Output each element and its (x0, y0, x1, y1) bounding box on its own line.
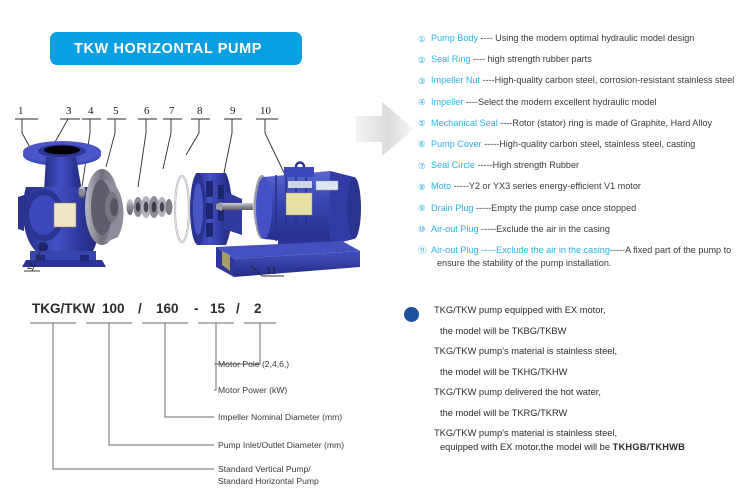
model-code-segment: - (194, 301, 199, 316)
model-code-segment: 15 (210, 301, 226, 316)
variant-line: TKG/TKW pump delivered the hot water, (434, 387, 752, 398)
legend-term: Seal Circle (431, 160, 475, 170)
legend-description: ----Rotor (stator) ring is made of Graph… (498, 118, 712, 128)
legend-term: Mechanical Seal (431, 118, 498, 128)
callout-number: 6 (144, 105, 150, 117)
callout-number: 7 (169, 105, 175, 117)
model-code-segment: 2 (254, 301, 262, 316)
model-label: Motor Pole (2,4,6,) (218, 359, 289, 369)
legend-number: ⑩ (418, 224, 431, 236)
legend-item: ③ Impeller Nut ----High-quality carbon s… (418, 75, 752, 87)
legend-item: ⑤ Mechanical Seal ----Rotor (stator) rin… (418, 118, 752, 130)
callout-number: 4 (88, 105, 94, 117)
variant-notes-block: TKG/TKW pump equipped with EX motor, the… (404, 305, 752, 462)
legend-term: Impeller (431, 97, 463, 107)
legend-number: ⑦ (418, 160, 431, 172)
legend-description: ----Select the modern excellent hydrauli… (463, 97, 656, 107)
impeller-art (85, 169, 124, 245)
parts-legend-list: ① Pump Body ---- Using the modern optima… (418, 33, 752, 279)
legend-item: ⑧ Moto -----Y2 or YX3 series energy-effi… (418, 181, 752, 193)
model-label: Standard Vertical Pump/ (218, 464, 311, 474)
legend-term: Seal Ring (431, 54, 470, 64)
variant-line: the model will be TKHG/TKHW (434, 367, 752, 378)
legend-number: ⑥ (418, 139, 431, 151)
legend-term: Air-out Plug -----Exclude the air in the… (431, 245, 610, 255)
legend-number: ⑤ (418, 118, 431, 130)
callout-number: 10 (260, 105, 272, 117)
legend-item: ① Pump Body ---- Using the modern optima… (418, 33, 752, 45)
model-label: Motor Power (kW) (218, 385, 287, 395)
variant-line: TKG/TKW pump's material is stainless ste… (434, 346, 752, 357)
callout-number: 8 (197, 105, 203, 117)
legend-description: -----Y2 or YX3 series energy-efficient V… (451, 181, 641, 191)
legend-item: ⑩ Air-out Plug -----Exclude the air in t… (418, 224, 752, 236)
bullet-icon (404, 307, 419, 322)
legend-term: Drain Plug (431, 203, 473, 213)
legend-item: ⑨ Drain Plug -----Empty the pump case on… (418, 203, 752, 215)
legend-item: ⑦ Seal Circle -----High strength Rubber (418, 160, 752, 172)
variant-line: TKG/TKW pump's material is stainless ste… (434, 428, 752, 439)
legend-description: -----High strength Rubber (475, 160, 579, 170)
callout-number: 3 (66, 105, 72, 117)
legend-term: Impeller Nut (431, 75, 480, 85)
mechanical-seal-art (127, 196, 173, 218)
legend-description: ----High-quality carbon steel, corrosion… (480, 75, 734, 85)
variant-line: TKG/TKW pump equipped with EX motor, (434, 305, 752, 316)
page-title-banner: TKW HORIZONTAL PUMP (50, 32, 302, 65)
model-label: Standard Horizontal Pump (218, 476, 319, 486)
page-title: TKW HORIZONTAL PUMP (50, 41, 262, 57)
callout-number: 5 (113, 105, 119, 117)
legend-item: ② Seal Ring ---- high strength rubber pa… (418, 54, 752, 66)
variant-model-code: TKHGB/TKHWB (613, 442, 685, 452)
legend-number: ③ (418, 75, 431, 87)
impeller-nut-art (78, 186, 85, 198)
section-arrow-icon (356, 98, 416, 160)
legend-term: Pump Cover (431, 139, 482, 149)
legend-description: -----Exclude the air in the casing (479, 224, 610, 234)
model-code-segment: 160 (156, 301, 179, 316)
legend-number: ⑪ (418, 245, 431, 257)
legend-term: Pump Body (431, 33, 478, 43)
seal-circle-art (175, 176, 189, 242)
legend-item: ⑪ Air-out Plug -----Exclude the air in t… (418, 245, 752, 269)
legend-item: ⑥ Pump Cover -----High-quality carbon st… (418, 139, 752, 151)
base-plate-art (216, 241, 360, 277)
legend-number: ⑧ (418, 181, 431, 193)
legend-description: ---- high strength rubber parts (470, 54, 591, 64)
variant-line: the model will be TKBG/TKBW (434, 326, 752, 337)
model-label: Impeller Nominal Diameter (mm) (218, 412, 342, 422)
legend-number: ④ (418, 97, 431, 109)
callout-number: 1 (18, 105, 24, 117)
legend-number: ① (418, 33, 431, 45)
legend-term: Moto (431, 181, 451, 191)
legend-description-line2: ensure the stability of the pump install… (431, 258, 731, 269)
legend-description: ---- Using the modern optimal hydraulic … (478, 33, 694, 43)
variant-line-final: equipped with EX motor,the model will be… (434, 442, 752, 453)
model-code-segment: TKG/TKW (32, 301, 95, 316)
callout-number: 11 (266, 265, 277, 277)
legend-description: -----A fixed part of the pump to (610, 245, 731, 255)
variant-line-prefix: equipped with EX motor,the model will be (440, 442, 613, 452)
exploded-pump-diagram: 1 3 4 5 6 7 8 9 10 (10, 95, 370, 285)
variant-line: the model will be TKRG/TKRW (434, 408, 752, 419)
model-naming-diagram: TKG/TKW 100 / 160 - 15 / 2 (14, 297, 390, 497)
model-code-segment: / (138, 301, 142, 316)
callout-number: 9 (230, 105, 236, 117)
callout-number: 2 (27, 260, 33, 272)
model-code-segment: / (236, 301, 240, 316)
legend-number: ⑨ (418, 203, 431, 215)
motor-art (254, 163, 361, 248)
product-spec-sheet: TKW HORIZONTAL PUMP (0, 0, 756, 500)
model-code-segment: 100 (102, 301, 125, 316)
legend-description: -----Empty the pump case once stopped (473, 203, 636, 213)
legend-description: -----High-quality carbon steel, stainles… (482, 139, 696, 149)
legend-number: ② (418, 54, 431, 66)
model-label: Pump Inlet/Outlet Diameter (mm) (218, 440, 344, 450)
legend-item: ④ Impeller ----Select the modern excelle… (418, 97, 752, 109)
legend-term: Air-out Plug (431, 224, 479, 234)
